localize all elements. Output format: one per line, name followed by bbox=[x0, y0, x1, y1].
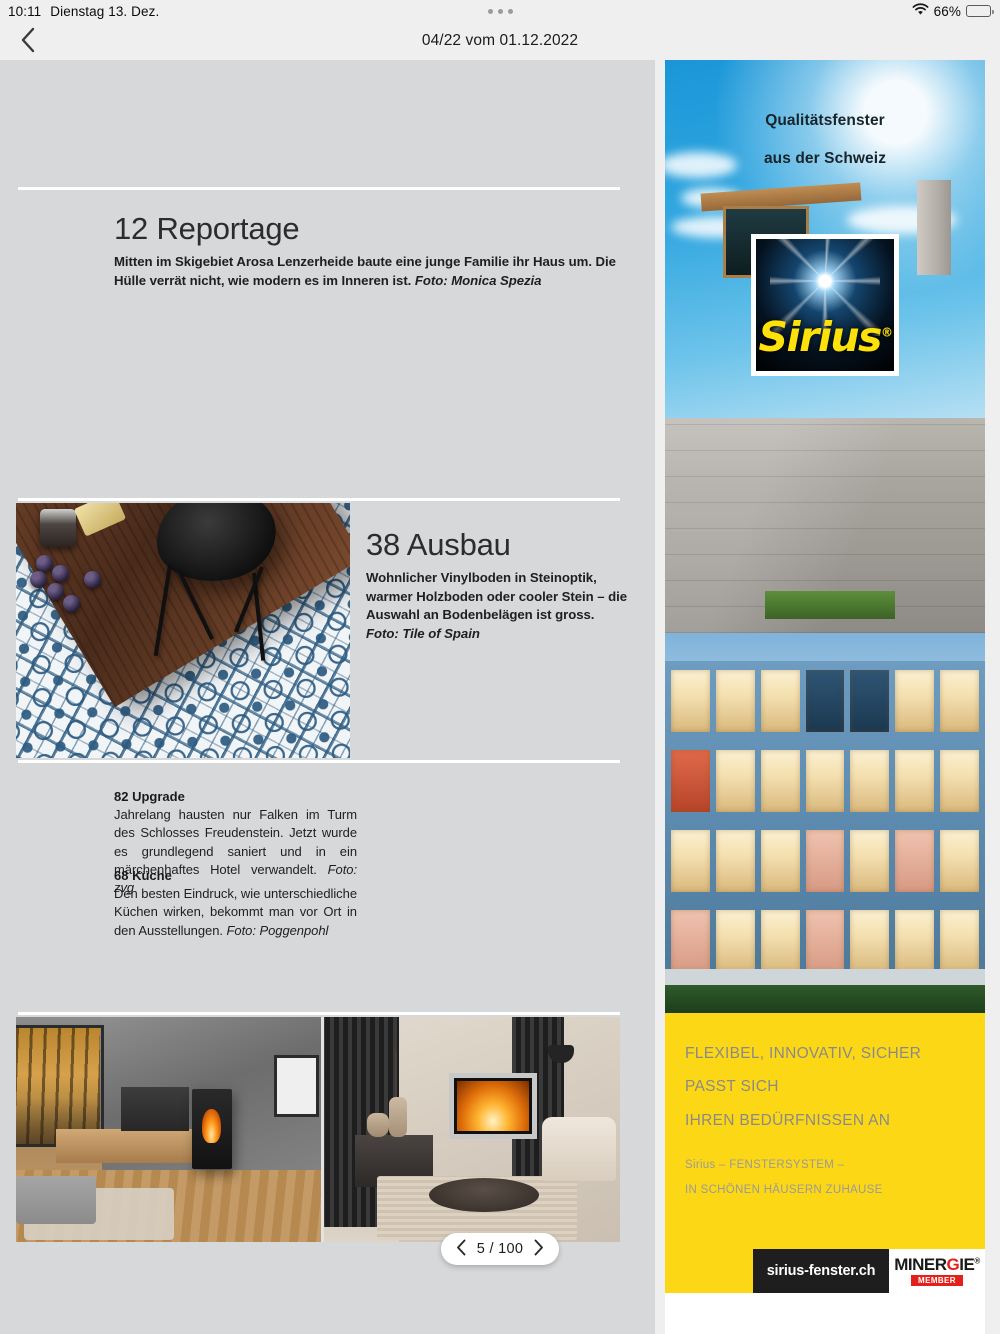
page-navigator[interactable]: 5 / 100 bbox=[441, 1233, 559, 1265]
television bbox=[121, 1087, 189, 1131]
chevron-right-icon bbox=[533, 1239, 544, 1259]
grape bbox=[63, 595, 80, 612]
ad-sky-heading: Qualitätsfenster aus der Schweiz bbox=[665, 102, 985, 178]
article-body-text: Wohnlicher Vinylboden in Steinoptik, war… bbox=[366, 570, 627, 622]
divider-rule bbox=[18, 760, 620, 763]
office-window bbox=[940, 830, 979, 892]
sideboard bbox=[56, 1129, 196, 1163]
minergie-part-g: G bbox=[947, 1255, 960, 1274]
building-facade bbox=[665, 661, 985, 981]
status-bar-right: 66% bbox=[912, 0, 991, 22]
office-window bbox=[671, 910, 710, 972]
article-ausbau[interactable]: 38 Ausbau Wohnlicher Vinylboden in Stein… bbox=[366, 528, 628, 643]
office-building-photo bbox=[665, 633, 985, 1013]
advertiser-url-badge[interactable]: sirius-fenster.ch bbox=[753, 1249, 889, 1293]
built-in-fireplace bbox=[449, 1073, 537, 1139]
dry-branch bbox=[395, 1051, 397, 1101]
ad-subclaim-line-2: IN SCHÖNEN HÄUSERN ZUHAUSE bbox=[685, 1178, 965, 1203]
ad-claim-panel: FLEXIBEL, INNOVATIV, SICHER PASST SICH I… bbox=[665, 1013, 985, 1293]
more-dots-icon bbox=[498, 9, 503, 14]
article-body: Wohnlicher Vinylboden in Steinoptik, war… bbox=[366, 569, 628, 643]
divider-rule bbox=[18, 1012, 620, 1015]
office-window bbox=[716, 670, 755, 732]
round-coffee-table bbox=[429, 1178, 539, 1212]
registered-mark: ® bbox=[881, 325, 892, 339]
minergie-part-2: IE bbox=[959, 1255, 974, 1274]
minergie-registered-mark: ® bbox=[974, 1256, 979, 1265]
ad-footer: sirius-fenster.ch MINERGIE® MEMBER bbox=[665, 1249, 985, 1293]
article-credit: Foto: Monica Spezia bbox=[415, 273, 542, 288]
minergie-logo: MINERGIE® MEMBER bbox=[889, 1249, 985, 1293]
sirius-logo-inner: Sirius® bbox=[756, 239, 894, 371]
building-base bbox=[665, 969, 985, 985]
office-window bbox=[850, 910, 889, 972]
flame bbox=[457, 1081, 529, 1131]
page-left[interactable]: 12 Reportage Mitten im Skigebiet Arosa L… bbox=[0, 60, 655, 1334]
issue-title: 04/22 vom 01.12.2022 bbox=[0, 32, 1000, 50]
nav-bar: 04/22 vom 01.12.2022 bbox=[0, 22, 1000, 60]
office-window bbox=[940, 750, 979, 812]
interior-photo-right bbox=[321, 1017, 620, 1242]
photo-separator bbox=[321, 1017, 324, 1242]
photo-tiled-floor[interactable] bbox=[16, 503, 350, 758]
ad-hero: Qualitätsfenster aus der Schweiz Sirius® bbox=[665, 60, 985, 633]
office-window bbox=[806, 910, 845, 972]
flame bbox=[202, 1109, 221, 1143]
teaser-credit: Foto: Poggenpohl bbox=[227, 923, 329, 938]
tall-vase bbox=[389, 1097, 407, 1137]
round-vase bbox=[367, 1113, 389, 1137]
sirius-wordmark: Sirius® bbox=[756, 313, 894, 361]
office-window bbox=[716, 750, 755, 812]
office-window bbox=[671, 670, 710, 732]
office-window bbox=[761, 830, 800, 892]
office-window bbox=[895, 670, 934, 732]
armchair bbox=[542, 1117, 616, 1181]
sofa bbox=[16, 1176, 96, 1224]
grape bbox=[30, 571, 47, 588]
grape bbox=[47, 583, 64, 600]
ad-claim-line-1: FLEXIBEL, INNOVATIV, SICHER bbox=[685, 1037, 965, 1070]
teaser-headline: 68 Küche bbox=[114, 868, 357, 883]
divider-rule bbox=[18, 187, 620, 190]
reader-viewport[interactable]: 12 Reportage Mitten im Skigebiet Arosa L… bbox=[0, 60, 1000, 1334]
facade-row bbox=[665, 661, 985, 741]
sirius-wordmark-text: Sirius bbox=[759, 313, 881, 361]
photo-interiors-fireplaces[interactable] bbox=[16, 1017, 620, 1242]
office-window bbox=[850, 830, 889, 892]
facade-row bbox=[665, 741, 985, 821]
ad-claim-line-3: IHREN BEDÜRFNISSEN AN bbox=[685, 1104, 965, 1137]
office-window bbox=[895, 750, 934, 812]
teaser-body-text: Jahrelang hausten nur Falken im Turm des… bbox=[114, 807, 357, 877]
teaser-headline: 82 Upgrade bbox=[114, 789, 357, 804]
wall-artwork bbox=[274, 1055, 319, 1117]
prev-page-button[interactable] bbox=[452, 1234, 470, 1264]
pellet-stove bbox=[192, 1089, 232, 1169]
minergie-wordmark: MINERGIE® bbox=[894, 1256, 979, 1273]
office-window bbox=[806, 670, 845, 732]
grape bbox=[84, 571, 101, 588]
concrete-column bbox=[917, 180, 951, 275]
window-grid bbox=[665, 661, 985, 981]
interior-photo-left bbox=[16, 1017, 321, 1242]
chevron-left-icon bbox=[456, 1239, 467, 1259]
teaser-body: Den besten Eindruck, wie unterschiedlich… bbox=[114, 885, 357, 940]
article-reportage[interactable]: 12 Reportage Mitten im Skigebiet Arosa L… bbox=[114, 212, 624, 290]
status-more-dots bbox=[0, 0, 1000, 22]
lawn bbox=[765, 591, 895, 619]
advertiser-url: sirius-fenster.ch bbox=[767, 1263, 876, 1279]
page-right-advertisement[interactable]: Qualitätsfenster aus der Schweiz Sirius® bbox=[665, 60, 985, 1334]
article-headline: 12 Reportage bbox=[114, 212, 624, 246]
office-window bbox=[806, 830, 845, 892]
next-page-button[interactable] bbox=[530, 1234, 548, 1264]
office-window bbox=[895, 830, 934, 892]
office-window bbox=[671, 750, 710, 812]
sirius-logo: Sirius® bbox=[751, 234, 899, 376]
office-window bbox=[716, 830, 755, 892]
jam-jar bbox=[40, 509, 76, 547]
office-window bbox=[806, 750, 845, 812]
lawn-strip bbox=[665, 985, 985, 1013]
office-window bbox=[761, 910, 800, 972]
article-credit: Foto: Tile of Spain bbox=[366, 626, 480, 641]
epaper-app: 10:11 Dienstag 13. Dez. 66% bbox=[0, 0, 1000, 1334]
battery-icon bbox=[966, 5, 991, 17]
wifi-icon bbox=[912, 3, 929, 19]
article-headline: 38 Ausbau bbox=[366, 528, 628, 562]
office-window bbox=[940, 910, 979, 972]
teaser-kueche[interactable]: 68 Küche Den besten Eindruck, wie unters… bbox=[114, 868, 357, 940]
ad-sky-line-1: Qualitätsfenster bbox=[665, 102, 985, 140]
office-window bbox=[850, 750, 889, 812]
minergie-member-badge: MEMBER bbox=[911, 1275, 963, 1286]
office-window bbox=[761, 670, 800, 732]
lamp-stem bbox=[562, 1017, 564, 1047]
office-window bbox=[940, 670, 979, 732]
ad-sky-line-2: aus der Schweiz bbox=[665, 140, 985, 178]
more-dots-icon bbox=[488, 9, 493, 14]
ad-claim-line-2: PASST SICH bbox=[685, 1070, 965, 1103]
battery-percent-label: 66% bbox=[934, 4, 961, 19]
ad-subclaim-line-1: Sirius – FENSTERSYSTEM – bbox=[685, 1153, 965, 1178]
article-body: Mitten im Skigebiet Arosa Lenzerheide ba… bbox=[114, 253, 624, 290]
ad-claim: FLEXIBEL, INNOVATIV, SICHER PASST SICH I… bbox=[685, 1037, 965, 1137]
grape bbox=[52, 565, 69, 582]
office-window bbox=[761, 750, 800, 812]
divider-rule bbox=[18, 498, 620, 501]
office-window bbox=[895, 910, 934, 972]
page-indicator: 5 / 100 bbox=[477, 1241, 523, 1257]
office-window bbox=[671, 830, 710, 892]
status-bar: 10:11 Dienstag 13. Dez. 66% bbox=[0, 0, 1000, 22]
minergie-part-1: MINER bbox=[894, 1255, 946, 1274]
office-window bbox=[850, 670, 889, 732]
grape bbox=[36, 555, 53, 572]
facade-row bbox=[665, 821, 985, 901]
office-window bbox=[716, 910, 755, 972]
ad-subclaim: Sirius – FENSTERSYSTEM – IN SCHÖNEN HÄUS… bbox=[685, 1153, 965, 1204]
more-dots-icon bbox=[508, 9, 513, 14]
